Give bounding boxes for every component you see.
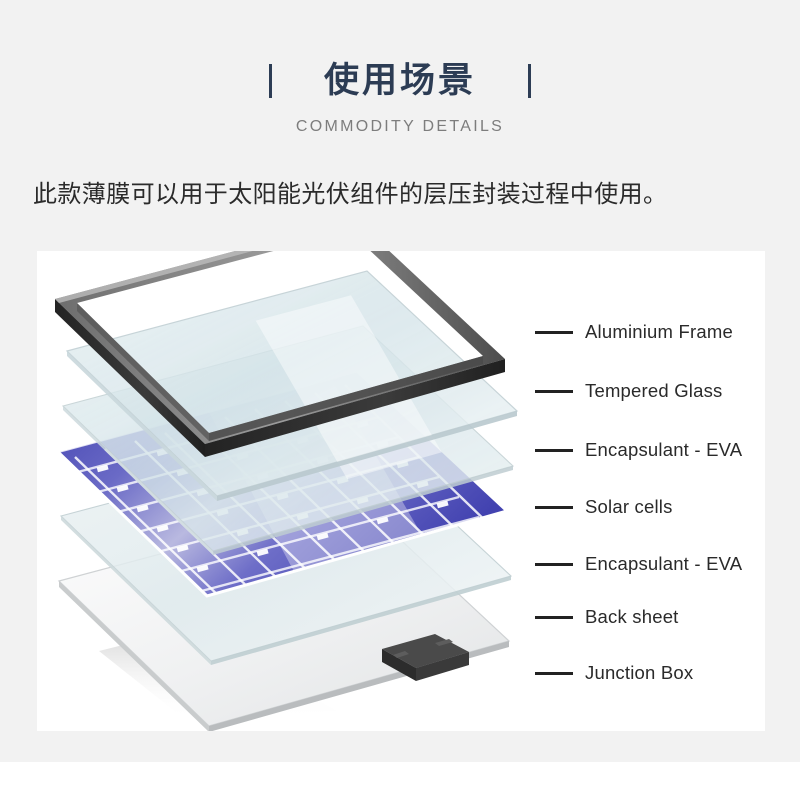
vertical-bar-icon-left (269, 64, 272, 98)
section-header: 使用场景 COMMODITY DETAILS (0, 58, 800, 136)
page-root: 使用场景 COMMODITY DETAILS 此款薄膜可以用于太阳能光伏组件的层… (0, 0, 800, 800)
intro-text: 此款薄膜可以用于太阳能光伏组件的层压封装过程中使用。 (33, 178, 773, 212)
solar-module-exploded-diagram (37, 251, 765, 731)
page-title: 使用场景 (324, 61, 476, 101)
title-row: 使用场景 (0, 58, 800, 104)
vertical-bar-icon-right (528, 64, 531, 98)
page-subtitle: COMMODITY DETAILS (0, 118, 800, 136)
diagram-card: Aluminium Frame Tempered Glass Encapsula… (37, 251, 765, 731)
